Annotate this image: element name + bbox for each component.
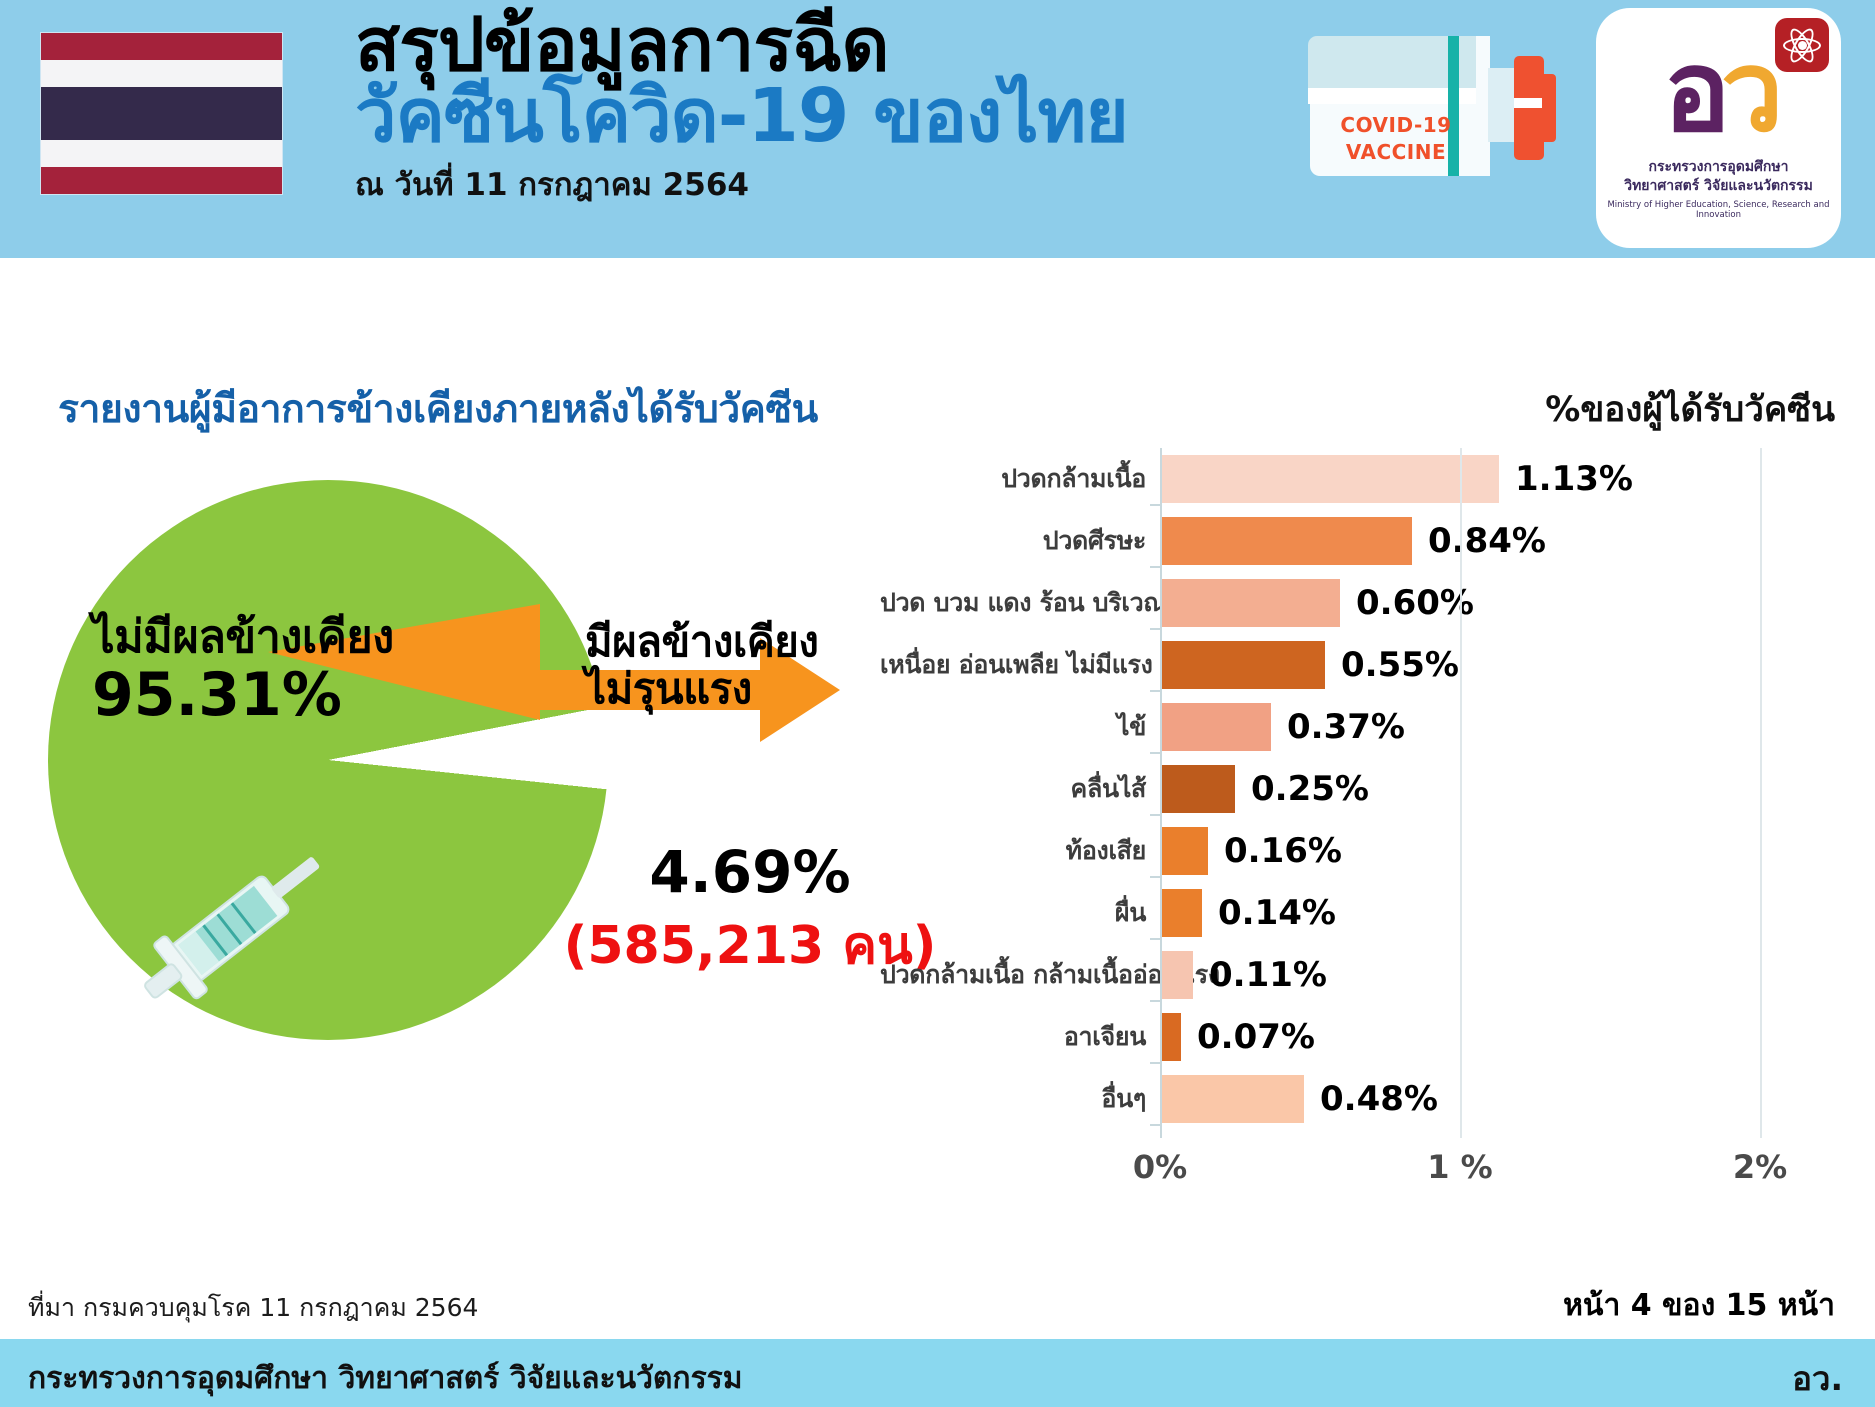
chart-y-axis — [1160, 448, 1162, 1138]
logo-glyph-left: อ — [1663, 36, 1720, 148]
bar-row: ผื่น0.14% — [880, 886, 1840, 940]
bar-row: ไข้0.37% — [880, 700, 1840, 754]
bar-row-label: ท้องเสีย — [880, 831, 1160, 871]
ministry-name-english: Ministry of Higher Education, Science, R… — [1596, 200, 1841, 220]
vaccine-vial-icon: COVID-19 VACCINE — [1290, 28, 1580, 190]
y-axis-tick — [1150, 876, 1160, 878]
chart-heading: %ของผู้ได้รับวัคซีน — [1545, 382, 1835, 437]
bar — [1160, 455, 1499, 503]
chart-gridline — [1460, 448, 1462, 1138]
y-axis-tick — [1150, 566, 1160, 568]
vaccine-label-line1: COVID-19 — [1316, 112, 1476, 139]
footer-ministry-abbrev: อว. — [1792, 1352, 1843, 1405]
bar-row: เหนื่อย อ่อนเพลีย ไม่มีแรง0.55% — [880, 638, 1840, 692]
y-axis-tick — [1150, 1000, 1160, 1002]
bar-row-label: ปวด บวม แดง ร้อน บริเวณที่ฉีด — [880, 583, 1160, 623]
bar-value-label: 1.13% — [1515, 459, 1633, 499]
bar-value-label: 0.48% — [1320, 1079, 1438, 1119]
bar-value-label: 0.84% — [1428, 521, 1546, 561]
section-heading: รายงานผู้มีอาการข้างเคียงภายหลังได้รับวั… — [58, 378, 818, 440]
bar-value-label: 0.07% — [1197, 1017, 1315, 1057]
ministry-name-line2: วิทยาศาสตร์ วิจัยและนวัตกรรม — [1596, 177, 1841, 196]
page-number: หน้า 4 ของ 15 หน้า — [1563, 1282, 1835, 1329]
footer-ministry-name: กระทรวงการอุดมศึกษา วิทยาศาสตร์ วิจัยและ… — [28, 1355, 743, 1402]
bar — [1160, 765, 1235, 813]
vaccine-vial-label: COVID-19 VACCINE — [1316, 112, 1476, 166]
bar — [1160, 579, 1340, 627]
report-date: ณ วันที่ 11 กรกฎาคม 2564 — [355, 159, 1305, 209]
bar-row-label: อื่นๆ — [880, 1079, 1160, 1119]
bar-row: ปวดศีรษะ0.84% — [880, 514, 1840, 568]
bar-row-label: คลื่นไส้ — [880, 769, 1160, 809]
logo-glyph: อว — [1596, 32, 1841, 152]
bar-row-label: อาเจียน — [880, 1017, 1160, 1057]
bar-row-label: ผื่น — [880, 893, 1160, 933]
y-axis-tick — [1150, 504, 1160, 506]
logo-glyph-right: ว — [1721, 36, 1774, 148]
bar-row-label: ปวดกล้ามเนื้อ — [880, 459, 1160, 499]
bar — [1160, 827, 1208, 875]
ministry-logo-text: กระทรวงการอุดมศึกษา วิทยาศาสตร์ วิจัยและ… — [1596, 158, 1841, 220]
pie-effect-value: 4.69% — [585, 838, 915, 906]
y-axis-tick — [1150, 814, 1160, 816]
bar-row: ท้องเสีย0.16% — [880, 824, 1840, 878]
bar-row: คลื่นไส้0.25% — [880, 762, 1840, 816]
bar — [1160, 703, 1271, 751]
bar — [1160, 517, 1412, 565]
x-axis-tick-label: 1 % — [1427, 1148, 1492, 1186]
ministry-name-line1: กระทรวงการอุดมศึกษา — [1596, 158, 1841, 177]
bar-value-label: 0.16% — [1224, 831, 1342, 871]
chart-gridline — [1760, 448, 1762, 1138]
y-axis-tick — [1150, 690, 1160, 692]
y-axis-tick — [1150, 1062, 1160, 1064]
bar — [1160, 889, 1202, 937]
thai-flag-icon — [40, 32, 283, 195]
y-axis-tick — [1150, 628, 1160, 630]
bar — [1160, 951, 1193, 999]
bar-row: ปวดกล้ามเนื้อ กล้ามเนื้ออ่อนแรง0.11% — [880, 948, 1840, 1002]
vaccine-label-line2: VACCINE — [1316, 139, 1476, 166]
bar — [1160, 641, 1325, 689]
y-axis-tick — [1150, 1124, 1160, 1126]
bar — [1160, 1013, 1181, 1061]
bar-value-label: 0.14% — [1218, 893, 1336, 933]
bar-value-label: 0.37% — [1287, 707, 1405, 747]
y-axis-tick — [1150, 938, 1160, 940]
bar-value-label: 0.25% — [1251, 769, 1369, 809]
bar-row-label: เหนื่อย อ่อนเพลีย ไม่มีแรง — [880, 645, 1160, 685]
pie-effect-label-line1: มีผลข้างเคียง — [585, 618, 915, 665]
bar-row-label: ปวดกล้ามเนื้อ กล้ามเนื้ออ่อนแรง — [880, 955, 1160, 995]
pie-effect-label: มีผลข้างเคียง ไม่รุนแรง — [585, 618, 915, 712]
bar — [1160, 1075, 1304, 1123]
y-axis-tick — [1150, 752, 1160, 754]
bar-value-label: 0.55% — [1341, 645, 1459, 685]
bar-row-label: ไข้ — [880, 707, 1160, 747]
ministry-logo: อว กระทรวงการอุดมศึกษา วิทยาศาสตร์ วิจัย… — [1596, 8, 1841, 248]
title-block: สรุปข้อมูลการฉีด วัคซีนโควิด-19 ของไทย ณ… — [355, 8, 1305, 209]
source-note: ที่มา กรมควบคุมโรค 11 กรกฎาคม 2564 — [28, 1288, 478, 1328]
bar-value-label: 0.11% — [1209, 955, 1327, 995]
pie-no-effect-value: 95.31% — [92, 660, 522, 730]
bar-rows: ปวดกล้ามเนื้อ1.13%ปวดศีรษะ0.84%ปวด บวม แ… — [880, 448, 1840, 1138]
bar-value-label: 0.60% — [1356, 583, 1474, 623]
x-axis-tick-label: 0% — [1133, 1148, 1187, 1186]
side-effects-bar-chart: ปวดกล้ามเนื้อ1.13%ปวดศีรษะ0.84%ปวด บวม แ… — [880, 448, 1840, 1208]
bar-row: ปวด บวม แดง ร้อน บริเวณที่ฉีด0.60% — [880, 576, 1840, 630]
x-axis-tick-label: 2% — [1733, 1148, 1787, 1186]
chart-x-axis-labels: 0%1 %2% — [880, 1148, 1840, 1194]
pie-effect-label-line2: ไม่รุนแรง — [585, 665, 915, 712]
bar-row: ปวดกล้ามเนื้อ1.13% — [880, 452, 1840, 506]
syringe-icon — [120, 830, 340, 1030]
bar-row-label: ปวดศีรษะ — [880, 521, 1160, 561]
page-title-line2: วัคซีนโควิด-19 ของไทย — [355, 79, 1305, 154]
bar-row: อื่นๆ0.48% — [880, 1072, 1840, 1126]
page-header: สรุปข้อมูลการฉีด วัคซีนโควิด-19 ของไทย ณ… — [0, 0, 1875, 258]
bar-row: อาเจียน0.07% — [880, 1010, 1840, 1064]
